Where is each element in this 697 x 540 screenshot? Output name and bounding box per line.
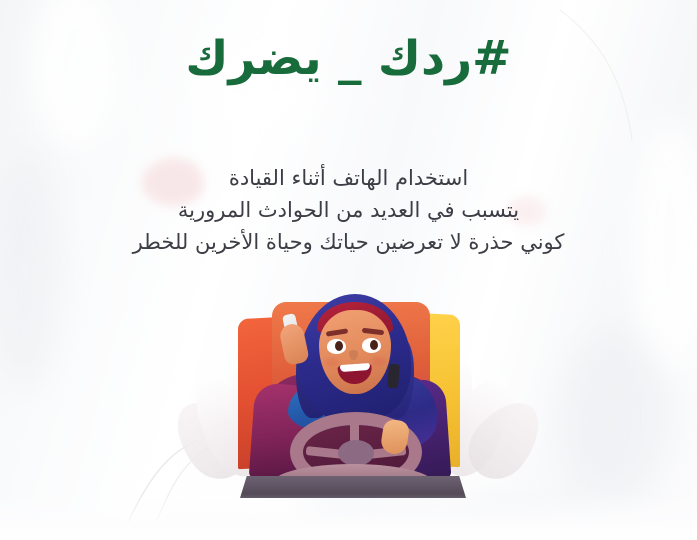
- awareness-poster: #ردك _ يضرك استخدام الهاتف أثناء القيادة…: [0, 0, 697, 540]
- pupil-right: [370, 340, 378, 350]
- pupil-left: [335, 341, 343, 351]
- body-line-2: يتسبب في العديد من الحوادث المرورية: [0, 195, 697, 227]
- body-line-1: استخدام الهاتف أثناء القيادة: [0, 163, 697, 195]
- cheek-right: [371, 357, 386, 366]
- driver-illustration: [186, 288, 516, 503]
- page-title: #ردك _ يضرك: [0, 34, 697, 85]
- phone-secondary: [387, 364, 400, 389]
- body-line-3: كوني حذرة لا تعرضين حياتك وحياة الأخرين …: [0, 227, 697, 259]
- bottom-fade: [0, 494, 697, 540]
- cheek-left: [324, 358, 339, 367]
- body-text: استخدام الهاتف أثناء القيادة يتسبب في ال…: [0, 163, 697, 259]
